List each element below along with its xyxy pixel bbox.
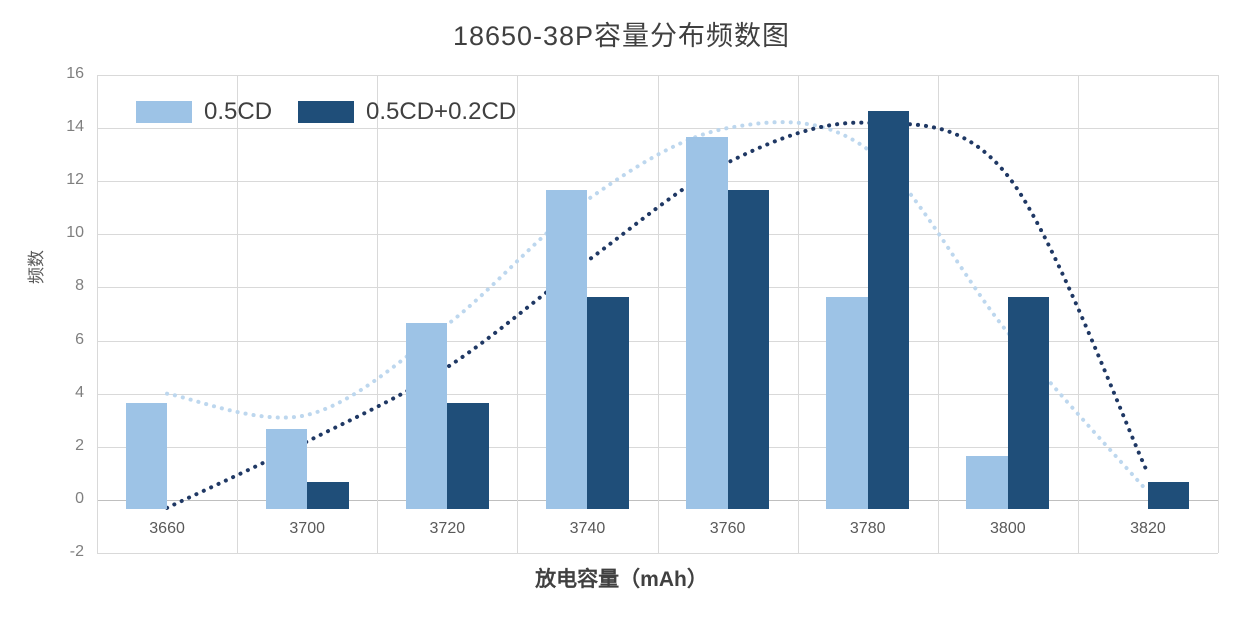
legend-label: 0.5CD (204, 98, 272, 126)
bar-3720-series0[interactable] (406, 323, 447, 509)
y-axis-tick-label: 4 (44, 384, 84, 402)
y-axis-tick-label: 2 (44, 437, 84, 455)
y-axis-tick-label: 8 (44, 277, 84, 295)
x-axis-tick-label: 3660 (97, 520, 237, 538)
chart-title: 18650-38P容量分布频数图 (0, 14, 1243, 53)
legend-item-1[interactable]: 0.5CD+0.2CD (298, 98, 516, 126)
x-axis-tick-label: 3700 (237, 520, 377, 538)
legend-label: 0.5CD+0.2CD (366, 98, 516, 126)
y-axis-tick-label: 0 (44, 490, 84, 508)
bar-3740-series1[interactable] (587, 297, 628, 509)
x-axis-tick-label: 3720 (377, 520, 517, 538)
bar-3800-series1[interactable] (1008, 297, 1049, 509)
bar-3800-series0[interactable] (966, 456, 1007, 509)
bar-3820-series1[interactable] (1148, 482, 1189, 509)
gridline-vertical (1218, 75, 1219, 553)
y-axis-tick-label: -2 (44, 543, 84, 561)
bar-3760-series0[interactable] (686, 137, 727, 509)
bar-3660-series0[interactable] (126, 403, 167, 509)
y-axis-tick-label: 12 (44, 171, 84, 189)
x-axis-title: 放电容量（mAh） (0, 563, 1243, 593)
bar-3740-series0[interactable] (546, 190, 587, 509)
x-axis-tick-label: 3800 (938, 520, 1078, 538)
x-axis-tick-label: 3820 (1078, 520, 1218, 538)
bar-3780-series0[interactable] (826, 297, 867, 509)
gridline-horizontal (97, 553, 1218, 554)
bar-3780-series1[interactable] (868, 111, 909, 509)
y-axis-tick-label: 16 (44, 65, 84, 83)
y-axis-tick-label: 10 (44, 224, 84, 242)
y-axis-tick-label: 6 (44, 331, 84, 349)
bar-3720-series1[interactable] (447, 403, 488, 509)
bar-3700-series0[interactable] (266, 429, 307, 509)
x-axis-tick-label: 3780 (798, 520, 938, 538)
legend-item-0[interactable]: 0.5CD (136, 98, 272, 126)
chart-legend: 0.5CD0.5CD+0.2CD (136, 98, 516, 126)
bars-layer (97, 75, 1218, 509)
legend-swatch-icon (136, 101, 192, 123)
x-axis-tick-label: 3740 (517, 520, 657, 538)
x-axis-tick-label: 3760 (658, 520, 798, 538)
legend-swatch-icon (298, 101, 354, 123)
bar-3700-series1[interactable] (307, 482, 348, 509)
y-axis-tick-label: 14 (44, 118, 84, 136)
chart-container: 18650-38P容量分布频数图 频数 1614121086420-2 3660… (0, 0, 1243, 632)
bar-3760-series1[interactable] (728, 190, 769, 509)
